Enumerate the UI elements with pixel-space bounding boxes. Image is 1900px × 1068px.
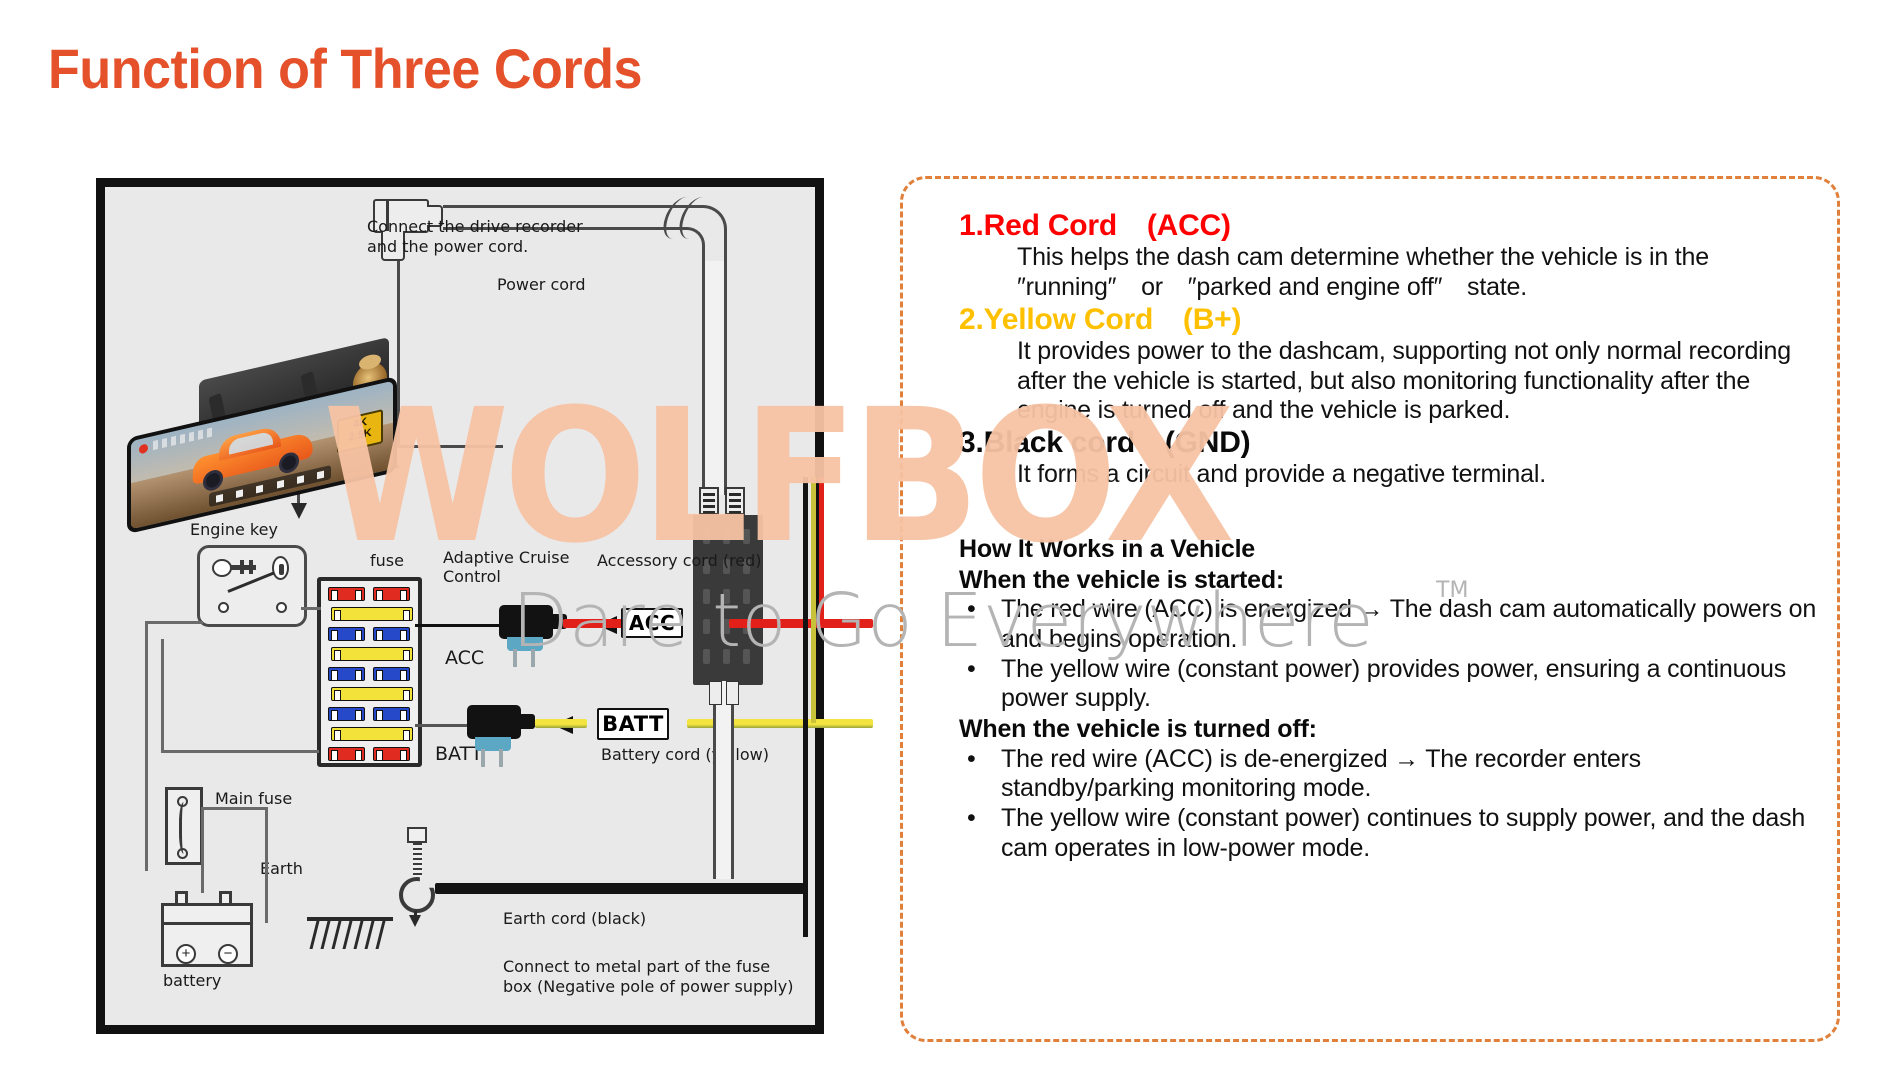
list-item-text: The yellow wire (constant power) continu…: [1001, 804, 1819, 864]
ground-wire-3: [201, 807, 204, 893]
key-slot-icon: [272, 556, 289, 580]
started-heading: When the vehicle is started:: [959, 565, 1819, 596]
ground-wire-2b: [161, 750, 319, 753]
car-battery-icon: + −: [161, 887, 253, 967]
engine-key-wire: [301, 607, 321, 610]
battery-positive-terminal: +: [176, 944, 196, 964]
red-wire-vertical: [819, 477, 824, 623]
page-title: Function of Three Cords: [48, 36, 642, 101]
ground-wire-4: [265, 807, 268, 923]
engine-key-label: Engine key: [190, 520, 278, 540]
yellow-cord-body: It provides power to the dashcam, suppor…: [1017, 337, 1819, 426]
battery-label: battery: [163, 971, 221, 991]
list-item: • The yellow wire (constant power) conti…: [959, 804, 1819, 864]
yellow-wire-vertical: [811, 477, 816, 723]
module-pin-strip: [699, 487, 755, 517]
how-it-works-title: How It Works in a Vehicle: [959, 534, 1819, 565]
power-cord-label: Power cord: [497, 275, 586, 295]
key-icon: [212, 558, 258, 578]
list-item-text: The red wire (ACC) is de-energized → The…: [1001, 745, 1819, 805]
main-fuse: [165, 787, 203, 865]
cord-entry-yellow: 2.Yellow Cord (B+) It provides power to …: [959, 303, 1819, 426]
earth-cord-black: [435, 883, 807, 894]
how-it-works-section: How It Works in a Vehicle When the vehic…: [959, 534, 1819, 864]
earth-cord-label: Earth cord (black): [503, 909, 646, 929]
module-feed-cable: [705, 681, 749, 911]
ground-wire-1: [145, 621, 148, 871]
ground-wire-2: [161, 639, 164, 753]
power-module: [693, 515, 763, 685]
engine-key-switch: [197, 545, 307, 627]
connect-recorder-note: Connect the drive recorder and the power…: [367, 217, 617, 257]
fusebox-negative-note: Connect to metal part of the fuse box (N…: [503, 957, 803, 997]
red-wire-corner: [819, 619, 824, 628]
list-item: • The red wire (ACC) is de-energized → T…: [959, 745, 1819, 805]
red-cord-body: This helps the dash cam determine whethe…: [1017, 243, 1819, 303]
bullet-glyph: •: [959, 655, 1001, 715]
bullet-glyph: •: [959, 804, 1001, 864]
main-fuse-label: Main fuse: [215, 789, 292, 809]
black-cord-heading: 3.Black cord (GND): [959, 426, 1819, 460]
list-item: • The yellow wire (constant power) provi…: [959, 655, 1819, 715]
red-cord-heading: 1.Red Cord (ACC): [959, 209, 1819, 243]
ground-wire-3b: [201, 807, 267, 810]
accessory-cord-label: Accessory cord (red): [597, 551, 762, 571]
cord-entry-black: 3.Black cord (GND) It forms a circuit an…: [959, 426, 1819, 490]
ground-symbol-icon: [307, 917, 393, 951]
wiring-diagram-panel: Connect the drive recorder and the power…: [96, 178, 824, 1034]
accessory-cord-red: [563, 619, 873, 629]
acc-circuit-label: ACC: [445, 647, 484, 671]
batt-cord-tag: BATT: [597, 708, 669, 740]
cord-entry-red: 1.Red Cord (ACC) This helps the dash cam…: [959, 209, 1819, 303]
acc-cord-tag: ACC: [621, 608, 683, 638]
mirror-dashcam-image: 4K 2.5K: [127, 359, 437, 509]
black-wire-vertical: [803, 477, 808, 937]
bullet-glyph: •: [959, 745, 1001, 805]
list-item-text: The red wire (ACC) is energized → The da…: [1001, 595, 1819, 655]
bullet-glyph: •: [959, 595, 1001, 655]
turned-off-heading: When the vehicle is turned off:: [959, 714, 1819, 745]
fuse-box: [317, 577, 422, 767]
fuse-label: fuse: [370, 551, 404, 571]
list-item-text: The yellow wire (constant power) provide…: [1001, 655, 1819, 715]
ground-wire-1b: [145, 621, 203, 624]
adaptive-cruise-control-label: Adaptive Cruise Control: [443, 549, 573, 587]
yellow-cord-heading: 2.Yellow Cord (B+): [959, 303, 1819, 337]
cord-description-panel: 1.Red Cord (ACC) This helps the dash cam…: [900, 176, 1840, 1042]
black-cord-body: It forms a circuit and provide a negativ…: [1017, 460, 1819, 490]
battery-negative-terminal: −: [218, 944, 238, 964]
list-item: • The red wire (ACC) is energized → The …: [959, 595, 1819, 655]
